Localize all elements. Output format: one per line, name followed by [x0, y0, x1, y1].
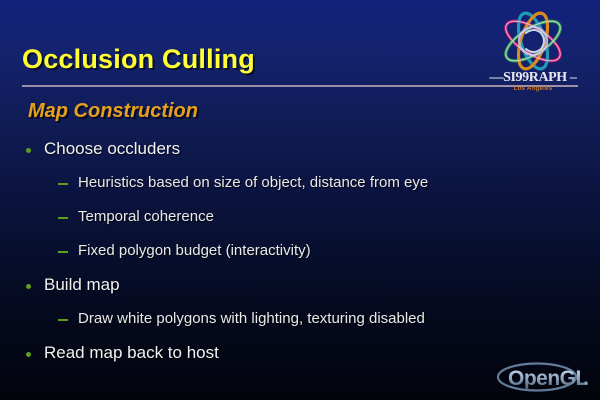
dash-bullet-icon	[58, 217, 68, 219]
siggraph-location: Los Angeles	[474, 86, 592, 92]
bullet-row: Heuristics based on size of object, dist…	[0, 172, 600, 206]
bullet-text: Temporal coherence	[78, 206, 214, 228]
bullet-row: Temporal coherence	[0, 206, 600, 240]
dash-bullet-icon	[58, 251, 68, 253]
dash-bullet-icon	[58, 319, 68, 321]
bullet-text: Fixed polygon budget (interactivity)	[78, 240, 311, 262]
dot-bullet-icon	[26, 148, 31, 153]
siggraph-wordmark: —SI99RAPH –	[474, 70, 592, 86]
opengl-icon: OpenGL	[494, 358, 594, 396]
slide-subtitle: Map Construction	[28, 100, 198, 123]
bullet-list: Choose occludersHeuristics based on size…	[0, 138, 600, 376]
bullet-row: Choose occluders	[0, 138, 600, 172]
dot-bullet-icon	[26, 352, 31, 357]
dash-bullet-icon	[58, 183, 68, 185]
siggraph-rings-icon	[480, 8, 586, 74]
bullet-text: Heuristics based on size of object, dist…	[78, 172, 428, 194]
slide-title: Occlusion Culling	[22, 44, 255, 75]
bullet-text: Draw white polygons with lighting, textu…	[78, 308, 425, 330]
dot-bullet-icon	[26, 284, 31, 289]
bullet-row: Draw white polygons with lighting, textu…	[0, 308, 600, 342]
svg-text:OpenGL: OpenGL	[508, 367, 589, 390]
siggraph-logo: —SI99RAPH – Los Angeles	[474, 8, 592, 98]
slide-canvas: Occlusion Culling Map Construction Choos…	[0, 0, 600, 400]
bullet-text: Read map back to host	[44, 342, 219, 364]
bullet-text: Build map	[44, 274, 120, 296]
bullet-row: Build map	[0, 274, 600, 308]
bullet-row: Fixed polygon budget (interactivity)	[0, 240, 600, 274]
bullet-text: Choose occluders	[44, 138, 180, 160]
